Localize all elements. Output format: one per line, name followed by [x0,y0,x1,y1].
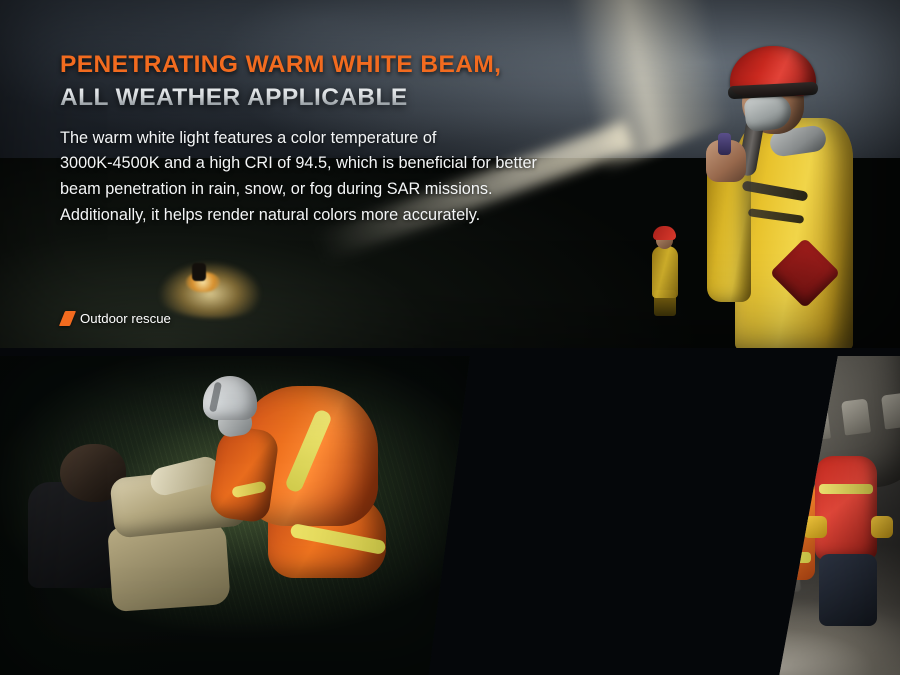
bucket-tooth [841,399,871,436]
debris-chunk [479,499,557,559]
work-glove [803,516,827,538]
rescuer-red-vest [623,536,675,618]
body-line-2: 3000K-4500K and a high CRI of 94.5, whic… [60,151,660,177]
face-mask [641,544,663,558]
badge-patch [759,472,779,488]
collapsed-slab-3 [463,452,632,591]
caption-label: Outdoor rescue [80,311,171,326]
handheld-radio [718,133,731,155]
distant-firefighter-body [652,246,678,298]
distant-figure-silhouette [192,263,206,281]
rescuer-red-helmet [669,446,705,470]
reflective-stripe [663,511,716,525]
product-feature-banner: PENETRATING WARM WHITE BEAM, ALL WEATHER… [0,0,900,675]
bottom-panel-row: Medical rescue [0,356,900,675]
rescuer-white-helmet [755,446,795,474]
caption-outdoor-rescue: Outdoor rescue [62,311,171,326]
reflective-stripe [745,552,811,563]
reflective-stripe [819,484,873,494]
body-line-1: The warm white light features a color te… [60,126,660,152]
rescuer-red-jacket [656,460,723,560]
bucket-tooth [801,405,831,442]
shovel-handle [721,555,758,666]
rescuer-white-helmet [635,524,667,546]
rescuer-orange-jacket [741,470,815,580]
bucket-tooth [761,411,791,448]
rescuer-navy-torso [560,513,620,613]
headline-secondary: ALL WEATHER APPLICABLE [60,83,660,113]
earthquake-scene [463,356,900,675]
body-copy: The warm white light features a color te… [60,126,660,228]
collapsed-slab-1 [463,356,751,489]
reflective-stripe [743,516,813,528]
rescuer-red-vest-right [815,456,877,560]
work-glove [871,516,893,538]
headline-primary: PENETRATING WARM WHITE BEAM, [60,50,660,80]
body-line-4: Additionally, it helps render natural co… [60,203,660,229]
panel-outdoor-rescue: PENETRATING WARM WHITE BEAM, ALL WEATHER… [0,0,900,348]
panel-medical-rescue: Medical rescue [0,356,470,675]
debris-chunk [534,484,594,532]
reflective-stripe [574,581,609,597]
collapsed-slab-2 [568,388,808,511]
debris-chunk [711,548,801,601]
bucket-tooth [881,393,900,430]
rescuer-white-helmet [603,504,637,528]
body-line-3: beam penetration in rain, snow, or fog d… [60,177,660,203]
rescuer-trousers [819,554,877,626]
slash-marker-icon [59,311,76,326]
hero-copy-block: PENETRATING WARM WHITE BEAM, ALL WEATHER… [60,50,660,228]
